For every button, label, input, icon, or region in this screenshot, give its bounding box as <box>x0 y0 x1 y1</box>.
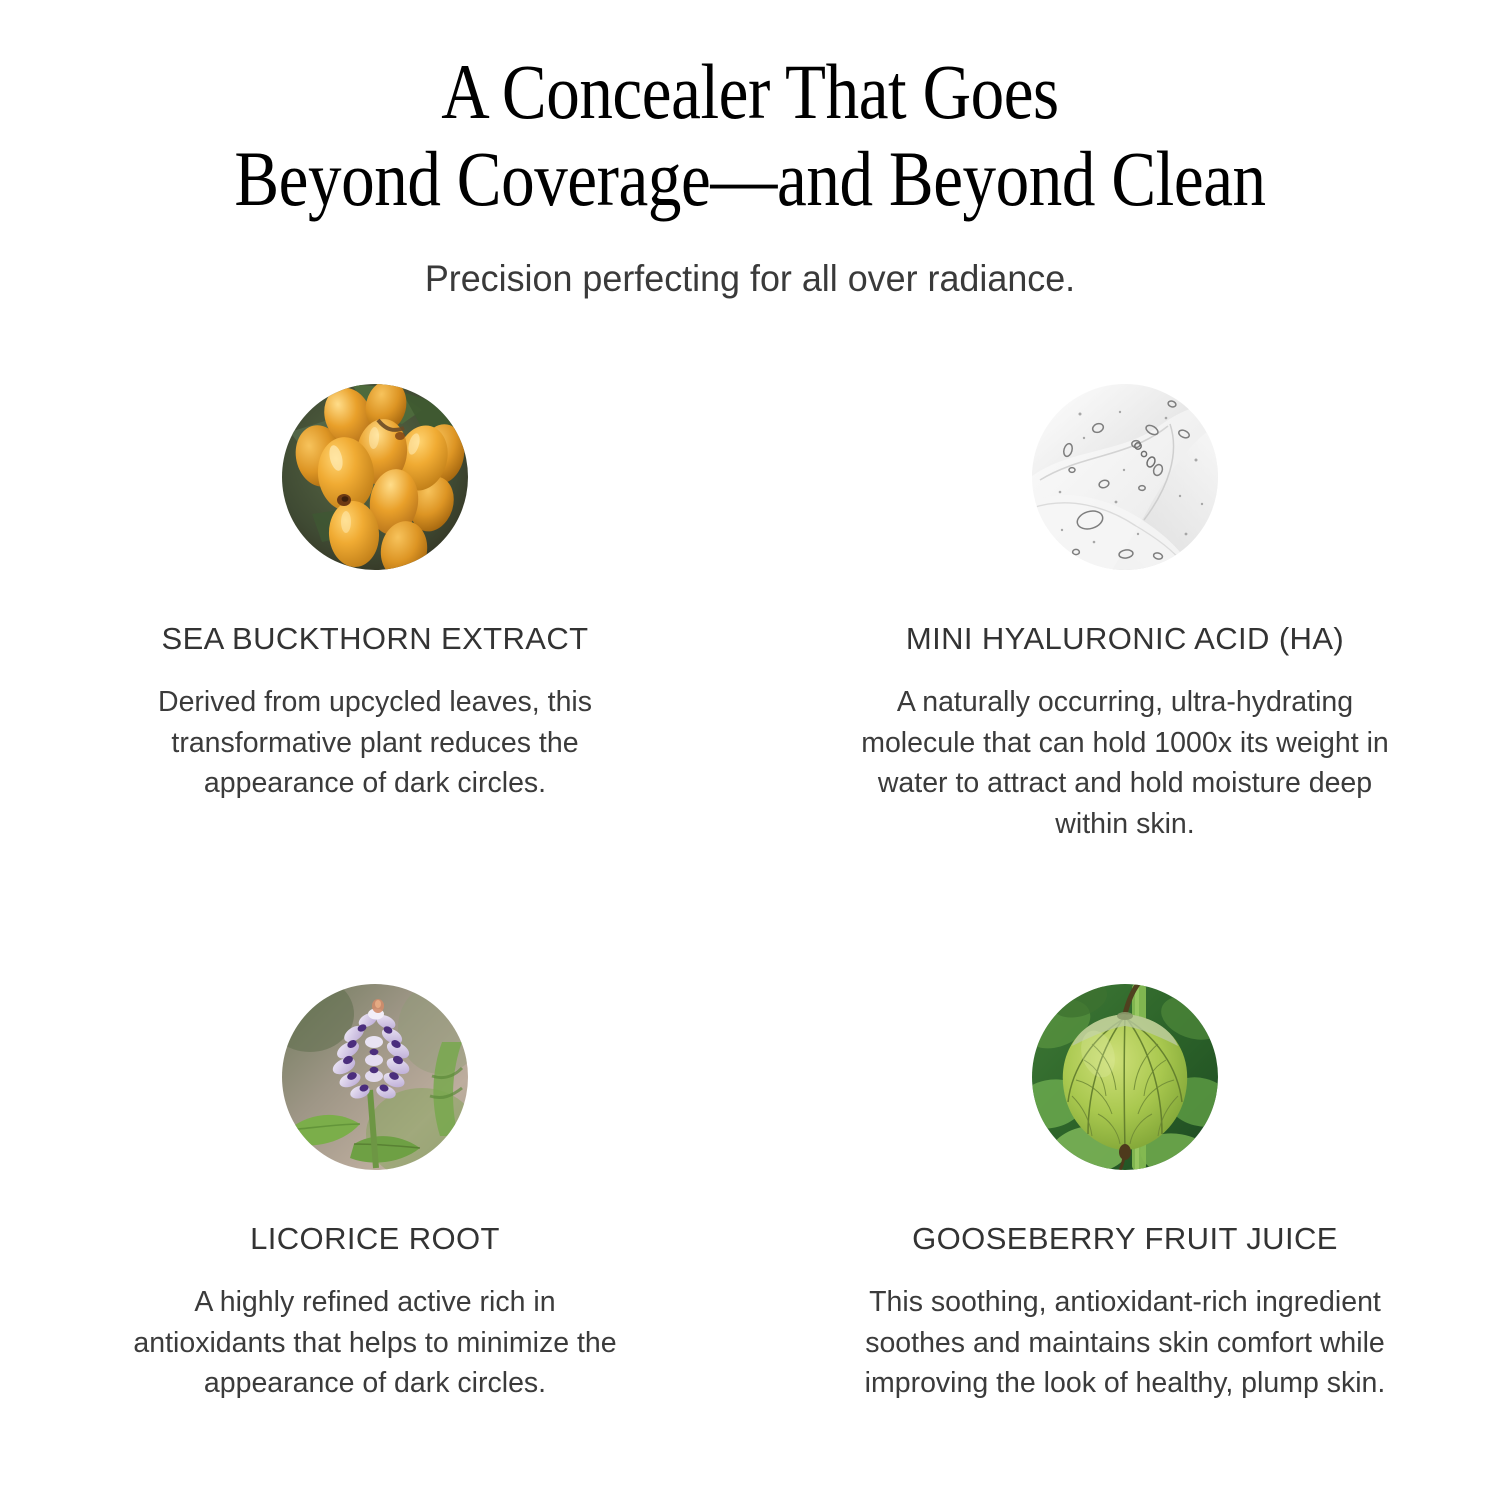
ingredient-description: A highly refined active rich in antioxid… <box>115 1282 635 1403</box>
ingredient-title: MINI HYALURONIC ACID (HA) <box>906 622 1344 656</box>
ingredient-card-licorice-root: LICORICE ROOT A highly refined active ri… <box>0 844 750 1404</box>
gooseberry-husk-fruit-photo <box>1032 984 1218 1170</box>
ingredient-card-gooseberry: GOOSEBERRY FRUIT JUICE This soothing, an… <box>750 844 1500 1404</box>
ingredient-title: LICORICE ROOT <box>250 1222 500 1256</box>
ingredient-description: This soothing, antioxidant-rich ingredie… <box>845 1282 1405 1403</box>
hyaluronic-acid-gel-texture-photo <box>1032 384 1218 570</box>
ingredient-title: GOOSEBERRY FRUIT JUICE <box>912 1222 1338 1256</box>
ingredient-benefits-page: A Concealer That Goes Beyond Coverage—an… <box>0 0 1500 1500</box>
ingredient-description: Derived from upcycled leaves, this trans… <box>115 682 635 803</box>
ingredients-grid: SEA BUCKTHORN EXTRACT Derived from upcyc… <box>0 378 1500 1403</box>
page-subtitle: Precision perfecting for all over radian… <box>23 257 1478 301</box>
ingredient-description: A naturally occurring, ultra-hydrating m… <box>845 682 1405 844</box>
ingredient-card-sea-buckthorn: SEA BUCKTHORN EXTRACT Derived from upcyc… <box>0 378 750 844</box>
ingredient-card-hyaluronic-acid: MINI HYALURONIC ACID (HA) A naturally oc… <box>750 378 1500 844</box>
page-header: A Concealer That Goes Beyond Coverage—an… <box>0 48 1500 301</box>
page-title-line-1: A Concealer That Goes <box>105 48 1395 135</box>
page-title: A Concealer That Goes Beyond Coverage—an… <box>105 48 1395 223</box>
sea-buckthorn-berries-photo <box>282 384 468 570</box>
page-title-line-2: Beyond Coverage—and Beyond Clean <box>105 135 1395 222</box>
licorice-root-flower-photo <box>282 984 468 1170</box>
ingredient-title: SEA BUCKTHORN EXTRACT <box>162 622 589 656</box>
